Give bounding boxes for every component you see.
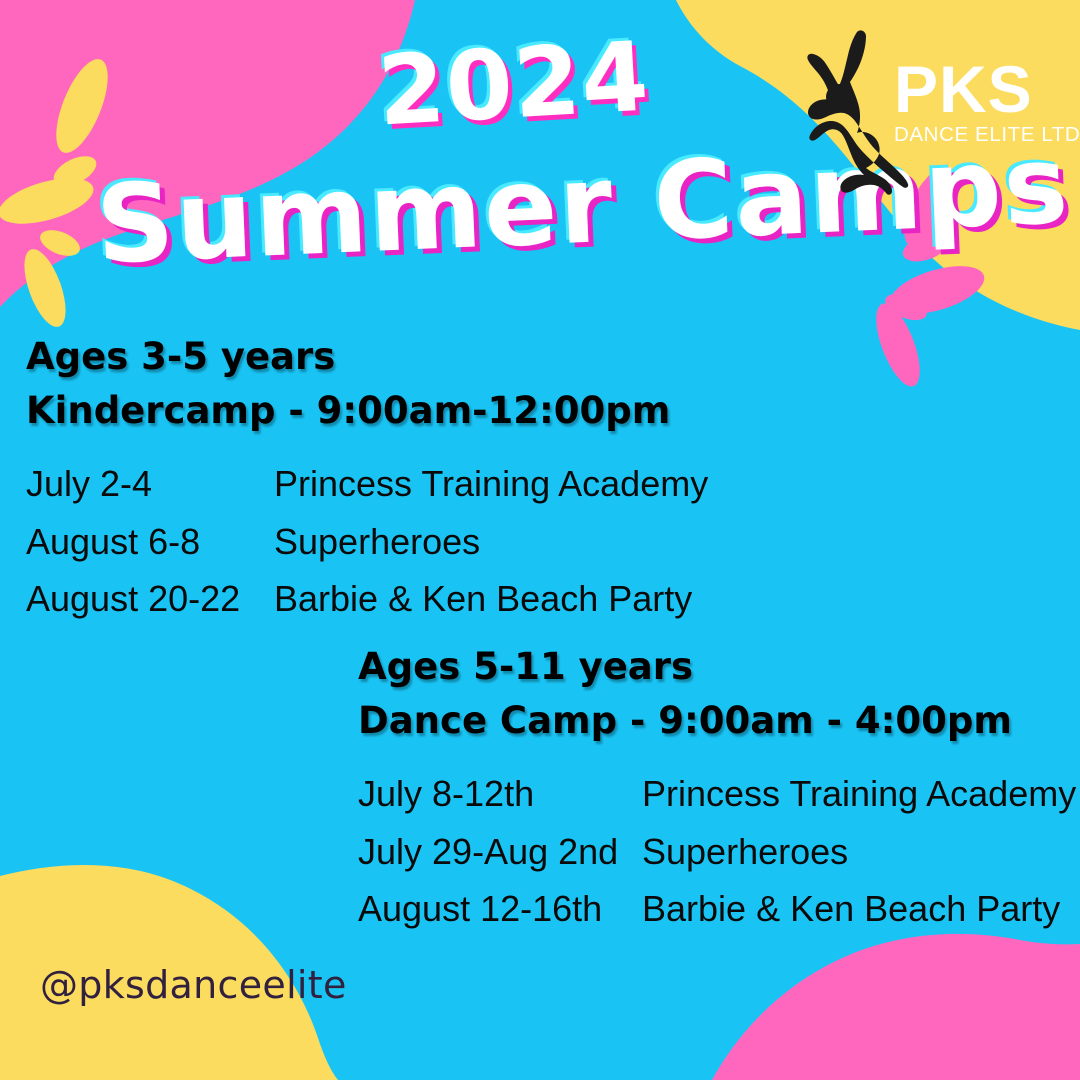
leaping-dancer-icon [782, 28, 910, 208]
row-theme: Princess Training Academy [274, 459, 708, 508]
logo-wordmark: PKS DANCE ELITE LTD. [894, 58, 1074, 146]
schedule-block-dancecamp: Ages 5-11 years Dance Camp - 9:00am - 4:… [358, 640, 1076, 933]
block-ages-heading: Ages 3-5 years [26, 330, 708, 384]
social-handle: @pksdanceelite [40, 966, 347, 1004]
schedule-rows: July 8-12th Princess Training Academy Ju… [358, 769, 1076, 933]
row-theme: Barbie & Ken Beach Party [274, 574, 708, 623]
pks-logo: PKS DANCE ELITE LTD. [782, 28, 1072, 208]
block-camp-heading: Dance Camp - 9:00am - 4:00pm [358, 694, 1076, 748]
schedule-rows: July 2-4 Princess Training Academy Augus… [26, 459, 708, 623]
row-dates: July 29-Aug 2nd [358, 827, 642, 876]
row-dates: August 12-16th [358, 884, 642, 933]
row-theme: Superheroes [642, 827, 1076, 876]
schedule-block-kindercamp: Ages 3-5 years Kindercamp - 9:00am-12:00… [26, 330, 708, 623]
row-dates: July 8-12th [358, 769, 642, 818]
block-camp-heading: Kindercamp - 9:00am-12:00pm [26, 384, 708, 438]
row-dates: August 20-22 [26, 574, 274, 623]
logo-name: PKS [894, 58, 1074, 120]
logo-subtitle: DANCE ELITE LTD. [894, 125, 1074, 146]
summer-camps-poster: 2024 Summer Camps PKS DANCE ELITE LTD. A… [0, 0, 1080, 1080]
row-theme: Princess Training Academy [642, 769, 1076, 818]
row-theme: Superheroes [274, 517, 708, 566]
block-ages-heading: Ages 5-11 years [358, 640, 1076, 694]
row-dates: July 2-4 [26, 459, 274, 508]
row-theme: Barbie & Ken Beach Party [642, 884, 1076, 933]
row-dates: August 6-8 [26, 517, 274, 566]
